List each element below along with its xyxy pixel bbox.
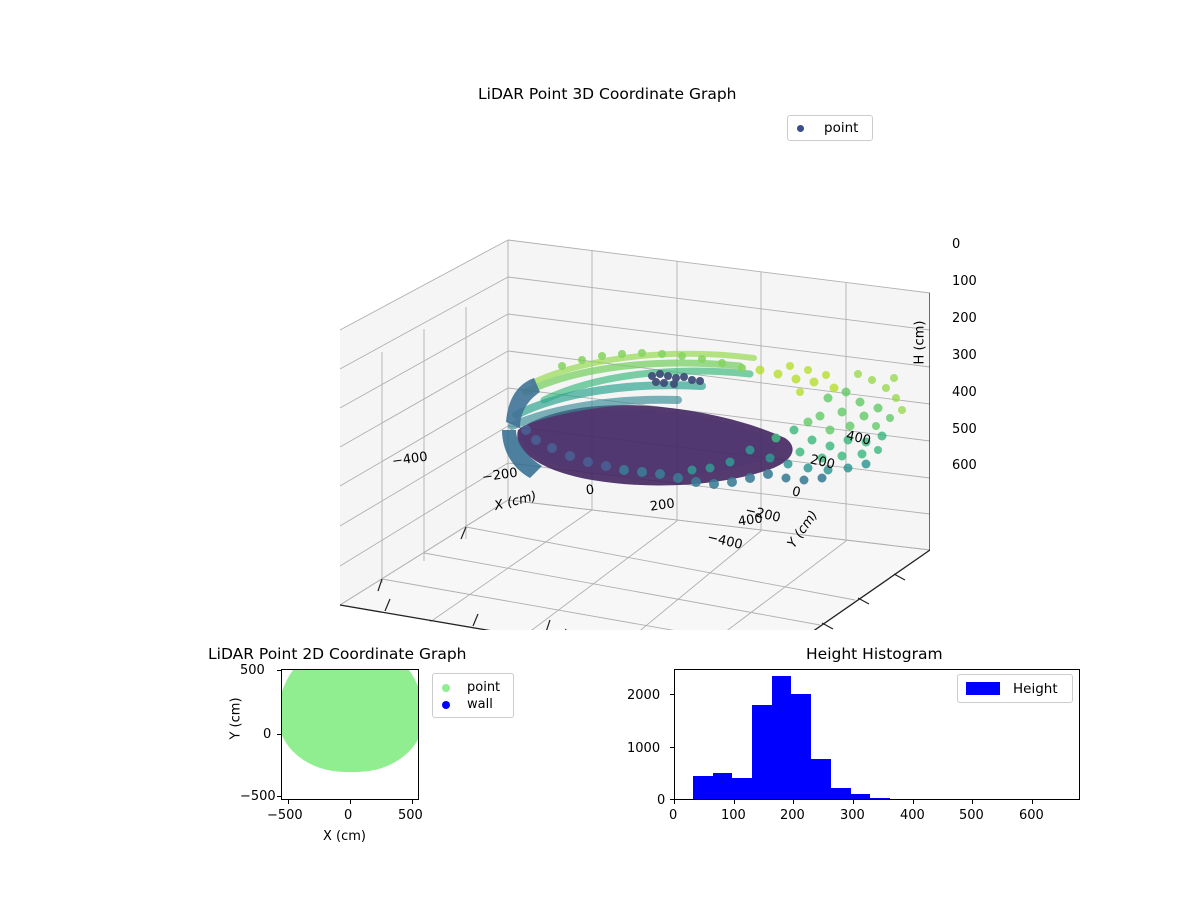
lidar-3d-axes[interactable]: −400 −200 0 200 400 X (cm) −400 −200 0 2… [330,130,930,630]
xhist-tick-3: 300 [840,808,865,823]
xhist-tick-0: 0 [669,808,677,823]
histogram-bar [831,788,851,799]
yhist-tick-0: 0 [657,793,665,808]
y2d-tick-2: 500 [240,663,265,678]
matplotlib-figure: LiDAR Point 3D Coordinate Graph point [0,0,1200,900]
xhist-tickmark-500 [972,800,973,804]
xhist-tickmark-600 [1032,800,1033,804]
xhist-tickmark-200 [793,800,794,804]
x2d-tickmark-0 [350,800,351,804]
xhist-tick-1: 100 [721,808,746,823]
yhist-tick-2: 2000 [627,688,660,703]
x2d-tickmark-neg500 [288,800,289,804]
histogram-bar [693,776,713,799]
x2d-tick-1: 0 [344,808,352,823]
y2d-tickmark-0 [277,734,281,735]
legend-wall-marker-icon [442,701,450,709]
z3d-tick-4: 400 [952,385,977,400]
y2d-tick-1: 0 [263,727,271,742]
histogram-bar [811,759,831,799]
x2d-tick-0: −500 [267,808,303,823]
xhist-tick-2: 200 [780,808,805,823]
z3d-tick-2: 200 [952,311,977,326]
xhist-tick-4: 400 [900,808,925,823]
xhist-tickmark-400 [913,800,914,804]
histogram-bar [732,778,752,799]
z3d-tick-5: 500 [952,422,977,437]
yhist-tick-1: 1000 [627,741,660,756]
histogram-bar [791,694,811,799]
legend-histogram[interactable]: Height [957,674,1073,703]
legend-hist-label: Height [1013,681,1058,697]
x2d-tick-2: 500 [398,808,423,823]
z3d-axis-label: H (cm) [912,321,927,365]
z3d-tick-0: 0 [952,237,960,252]
histogram-bar [870,798,890,799]
y2d-axis-label: Y (cm) [229,697,244,739]
lidar-2d-axes[interactable] [281,669,419,800]
z3d-tick-6: 600 [952,458,977,473]
chart-3d-title: LiDAR Point 3D Coordinate Graph [478,85,736,103]
xhist-tick-6: 600 [1019,808,1044,823]
legend-2d-row-wall[interactable]: wall [442,696,513,713]
legend-2d[interactable]: point wall [432,673,514,718]
y2d-tickmark-neg500 [277,796,281,797]
point-cloud-2d [281,669,419,772]
legend-2d-point-label: point [467,680,500,695]
legend-2d-row-point[interactable]: point [442,679,513,696]
chart-hist-title: Height Histogram [806,645,943,663]
yhist-tickmark-1000 [670,747,674,748]
histogram-bar [772,676,792,799]
z3d-tick-1: 100 [952,274,977,289]
chart-2d-title: LiDAR Point 2D Coordinate Graph [208,645,466,663]
legend-height-patch-icon [966,682,1000,695]
xhist-tickmark-300 [853,800,854,804]
y2d-tick-0: −500 [240,789,276,804]
histogram-bar [752,705,772,799]
x2d-tickmark-500 [412,800,413,804]
z3d-tick-3: 300 [952,348,977,363]
xhist-tickmark-100 [734,800,735,804]
y2d-tickmark-500 [277,670,281,671]
yhist-tickmark-2000 [670,694,674,695]
x2d-axis-label: X (cm) [323,829,366,844]
xhist-tick-5: 500 [959,808,984,823]
histogram-bar [713,773,733,799]
histogram-bar [851,794,871,799]
legend-2d-wall-label: wall [467,697,493,712]
xhist-tickmark-0 [674,800,675,804]
lidar-3d-plot [330,130,930,630]
legend-point-marker-icon [442,684,450,692]
